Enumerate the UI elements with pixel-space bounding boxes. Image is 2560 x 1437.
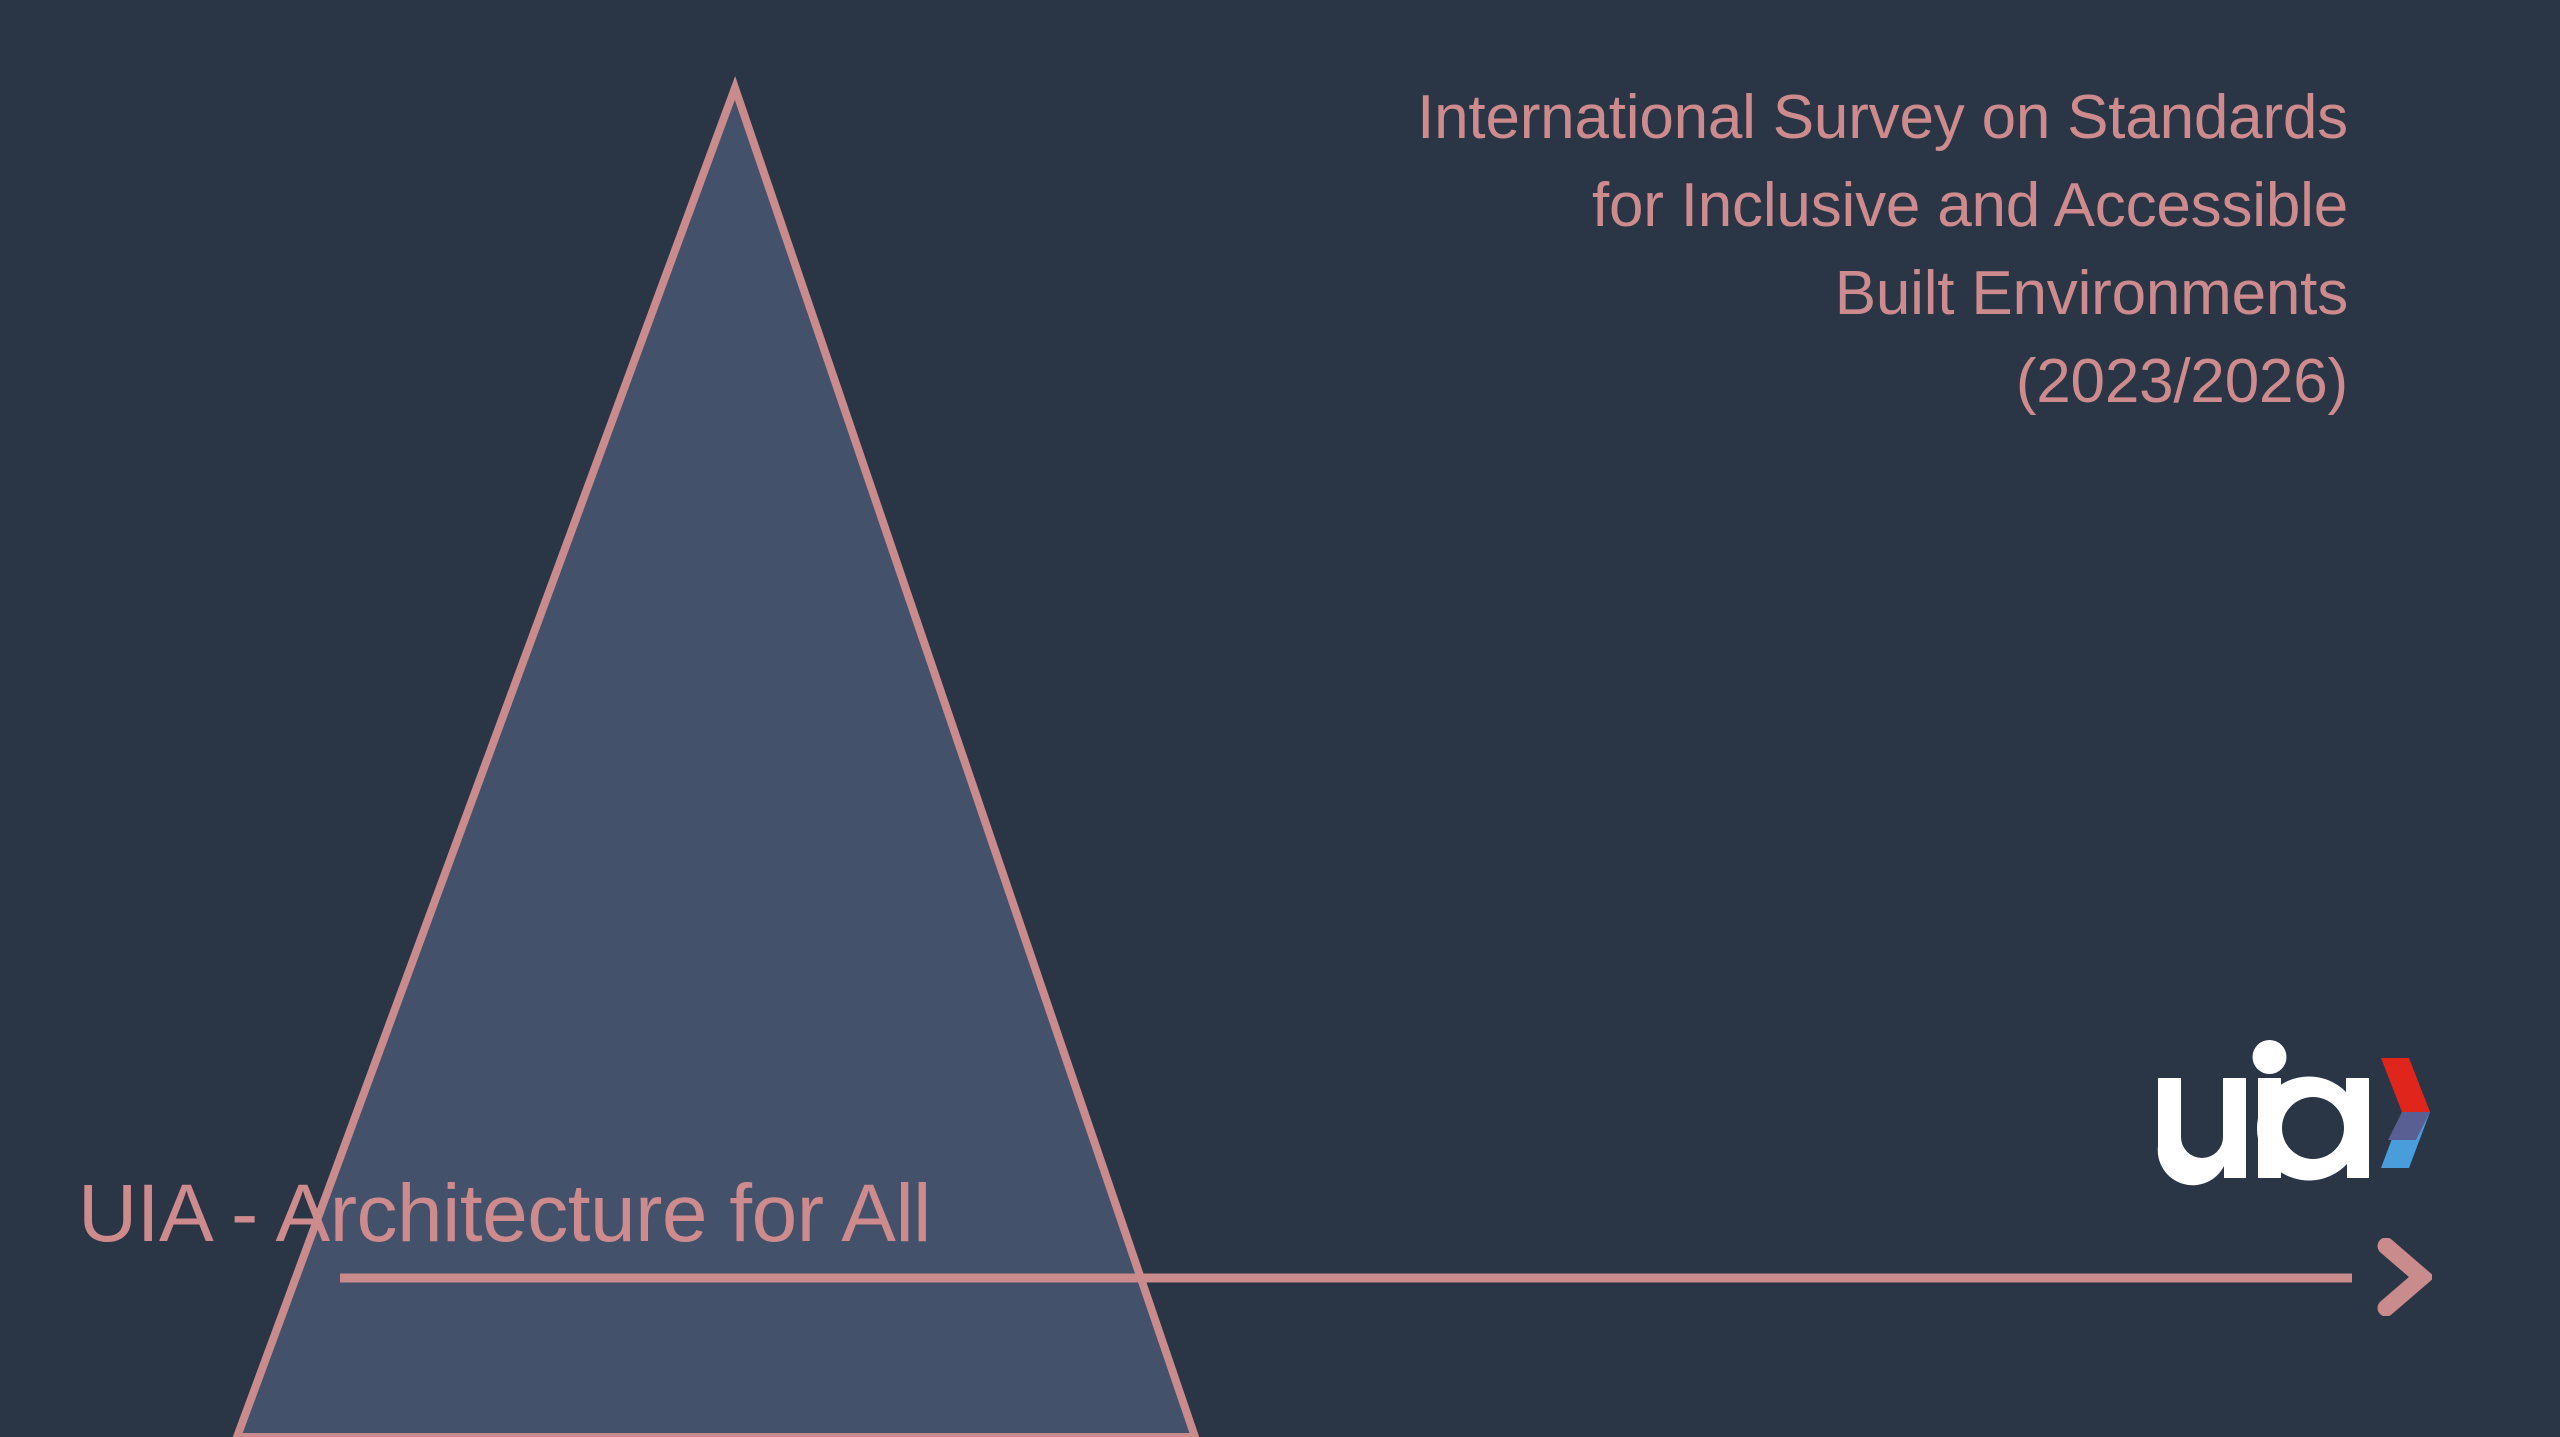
- uia-letter-i-dot: [2253, 1040, 2287, 1074]
- background-artwork: [0, 0, 2560, 1437]
- uia-letter-a: [2257, 1077, 2369, 1181]
- chevron-right-stroke: [2386, 1246, 2422, 1308]
- uia-logo: [2148, 1040, 2430, 1186]
- triangle-shape: [237, 88, 1195, 1437]
- chevron-right-icon: [2376, 1238, 2432, 1316]
- uia-chevron-red: [2381, 1058, 2430, 1112]
- title-slide: International Survey on Standards for In…: [0, 0, 2560, 1437]
- uia-letter-u: [2158, 1078, 2246, 1185]
